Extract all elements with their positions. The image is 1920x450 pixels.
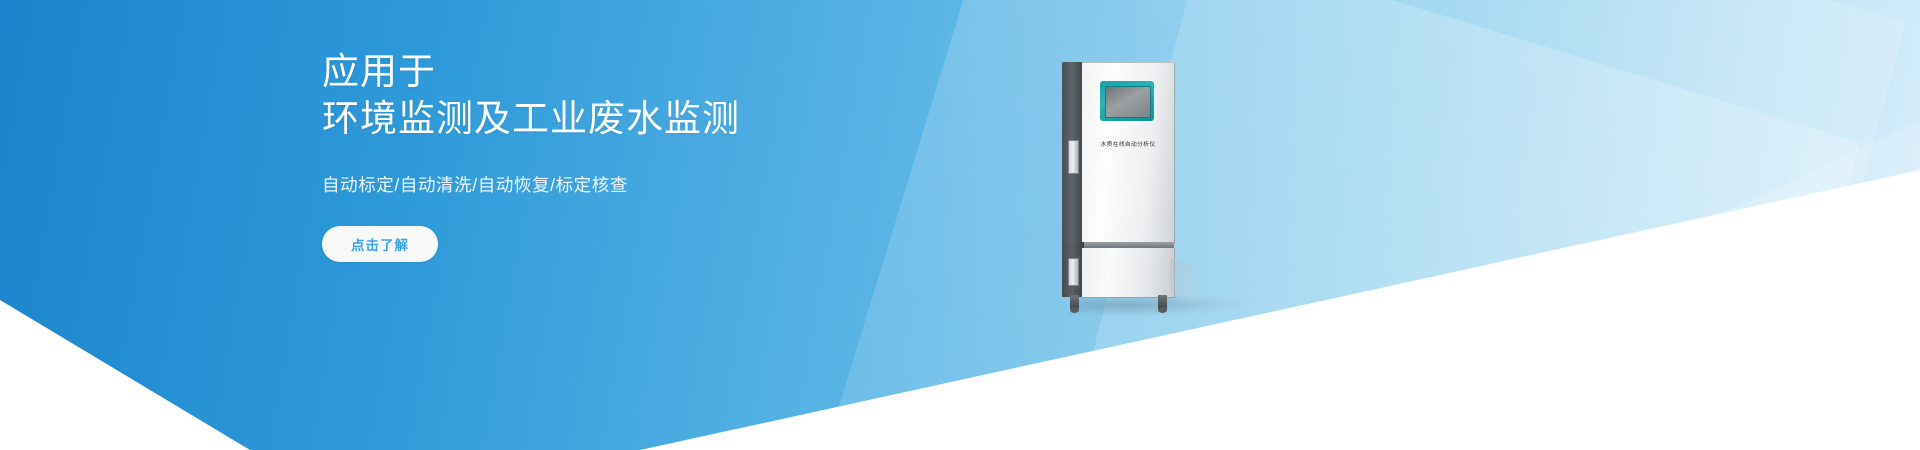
- device-caster-left-icon: [1070, 295, 1079, 309]
- learn-more-button[interactable]: 点击了解: [322, 226, 438, 262]
- device-lower-handle-icon: [1068, 258, 1079, 286]
- device-caster-right-icon: [1158, 295, 1167, 309]
- page-title: 应用于 环境监测及工业废水监测: [322, 48, 1142, 142]
- banner-subtitle: 自动标定/自动清洗/自动恢复/标定核查: [322, 172, 1142, 198]
- banner-content: 应用于 环境监测及工业废水监测 自动标定/自动清洗/自动恢复/标定核查 点击了解: [322, 48, 1142, 262]
- hero-banner: 应用于 环境监测及工业废水监测 自动标定/自动清洗/自动恢复/标定核查 点击了解…: [0, 0, 1920, 450]
